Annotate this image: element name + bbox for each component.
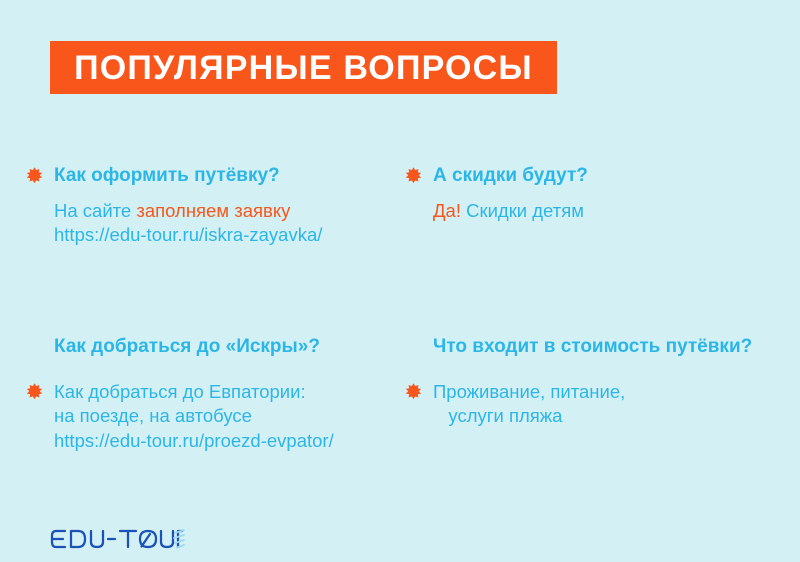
faq-question-text: Что входит в стоимость путёвки? <box>433 335 752 359</box>
faq-question-text: А скидки будут? <box>433 164 588 188</box>
faq-question-row: Как оформить путёвку? <box>26 164 322 188</box>
page-title: ПОПУЛЯРНЫЕ ВОПРОСЫ <box>74 51 533 85</box>
faq-answer-line: Как добраться до Евпатории: <box>54 380 334 404</box>
faq-answer-line: Проживание, питание, <box>433 380 625 404</box>
star-bullet-icon <box>405 167 422 184</box>
faq-item-3: Как добраться до «Искры»? Как добраться … <box>26 335 334 453</box>
faq-question-text: Как добраться до «Искры»? <box>54 335 334 359</box>
star-bullet-icon <box>405 383 422 400</box>
faq-answer-link[interactable]: https://edu-tour.ru/iskra-zayavka/ <box>54 223 322 247</box>
faq-item-1: Как оформить путёвку? На сайте заполняем… <box>26 164 322 248</box>
faq-answer-line: На сайте заполняем заявку <box>54 199 322 223</box>
page-title-banner: ПОПУЛЯРНЫЕ ВОПРОСЫ <box>50 41 557 94</box>
answer-segment-plain: Скидки детям <box>466 200 584 221</box>
star-bullet-icon <box>26 383 43 400</box>
faq-item-4: Что входит в стоимость путёвки? Проживан… <box>405 335 752 429</box>
answer-segment-plain: На сайте <box>54 200 136 221</box>
slide-canvas: ПОПУЛЯРНЫЕ ВОПРОСЫ Как оформить путёвку?… <box>0 0 800 562</box>
faq-question-row: А скидки будут? <box>405 164 588 188</box>
faq-answer-line: Да! Скидки детям <box>433 199 588 223</box>
faq-item-2: А скидки будут? Да! Скидки детям <box>405 164 588 223</box>
faq-answer-row: Проживание, питание, услуги пляжа <box>405 380 752 429</box>
star-bullet-icon <box>26 167 43 184</box>
faq-answer-line: услуги пляжа <box>433 404 625 428</box>
faq-answer-row: Как добраться до Евпатории: на поезде, н… <box>26 380 334 453</box>
edu-tour-logo-icon <box>50 526 185 552</box>
faq-answer: На сайте заполняем заявку https://edu-to… <box>26 199 322 248</box>
answer-segment-highlight: заполняем заявку <box>136 200 290 221</box>
faq-question-text: Как оформить путёвку? <box>54 164 280 188</box>
faq-answer: Да! Скидки детям <box>405 199 588 223</box>
faq-answer: Как добраться до Евпатории: на поезде, н… <box>54 380 334 453</box>
answer-segment-highlight: Да! <box>433 200 466 221</box>
faq-answer: Проживание, питание, услуги пляжа <box>433 380 625 429</box>
brand-logo[interactable] <box>50 526 185 552</box>
faq-answer-link[interactable]: https://edu-tour.ru/proezd-evpator/ <box>54 429 334 453</box>
faq-answer-line: на поезде, на автобусе <box>54 404 334 428</box>
